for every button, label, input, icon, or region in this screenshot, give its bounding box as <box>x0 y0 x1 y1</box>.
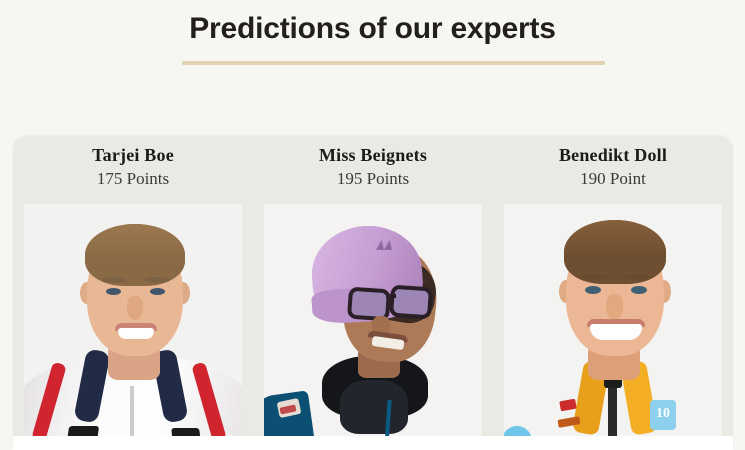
page-header: Predictions of our experts <box>0 0 745 96</box>
portrait-smile <box>590 324 642 340</box>
portrait-eyebrow-right <box>144 277 170 283</box>
expert-photo-wrapper <box>24 204 242 440</box>
expert-name: Tarjei Boe <box>92 145 174 166</box>
portrait-eyebrow-left <box>101 277 127 283</box>
portrait-eyebrow-right <box>624 274 652 280</box>
expert-points: 190 Point <box>580 169 646 189</box>
expert-photo-wrapper: 10 <box>504 204 722 440</box>
jacket-zipper <box>130 386 134 440</box>
jacket-badge-label: 10 <box>656 406 670 422</box>
portrait-hair-shading <box>85 224 185 286</box>
jacket-zipper <box>608 384 617 440</box>
expert-portrait-image <box>24 204 242 440</box>
portrait-nose <box>127 296 143 320</box>
page-title: Predictions of our experts <box>0 12 745 46</box>
expert-card-2[interactable]: Miss Beignets 195 Points <box>253 136 493 450</box>
eyeglass-bridge <box>386 294 396 298</box>
portrait-eye-left <box>585 286 601 294</box>
experts-row: Tarjei Boe 175 Points <box>13 136 733 450</box>
portrait-hair-shading <box>564 220 666 284</box>
portrait-smile <box>118 328 154 339</box>
jacket-inner-collar <box>340 380 408 434</box>
expert-portrait-image: 10 <box>504 204 722 440</box>
expert-name: Miss Beignets <box>319 145 427 166</box>
card-footer-strip <box>13 436 733 450</box>
expert-name: Benedikt Doll <box>559 145 667 166</box>
portrait-eye-right <box>631 286 647 294</box>
portrait-nose <box>606 294 623 320</box>
portrait-eye-right <box>150 288 165 295</box>
experts-card: Tarjei Boe 175 Points <box>13 136 733 450</box>
expert-points: 195 Points <box>337 169 409 189</box>
expert-card-3[interactable]: Benedikt Doll 190 Point 10 <box>493 136 733 450</box>
expert-portrait-image <box>264 204 482 440</box>
portrait-eye-left <box>106 288 121 295</box>
eyeglass-lens-right <box>389 285 433 320</box>
portrait-eyebrow-left <box>580 274 608 280</box>
predictions-page: Predictions of our experts Tarjei Boe 17… <box>0 0 745 450</box>
expert-points: 175 Points <box>97 169 169 189</box>
title-underline-rule <box>182 61 605 65</box>
expert-card-1[interactable]: Tarjei Boe 175 Points <box>13 136 253 450</box>
expert-photo-wrapper <box>264 204 482 440</box>
